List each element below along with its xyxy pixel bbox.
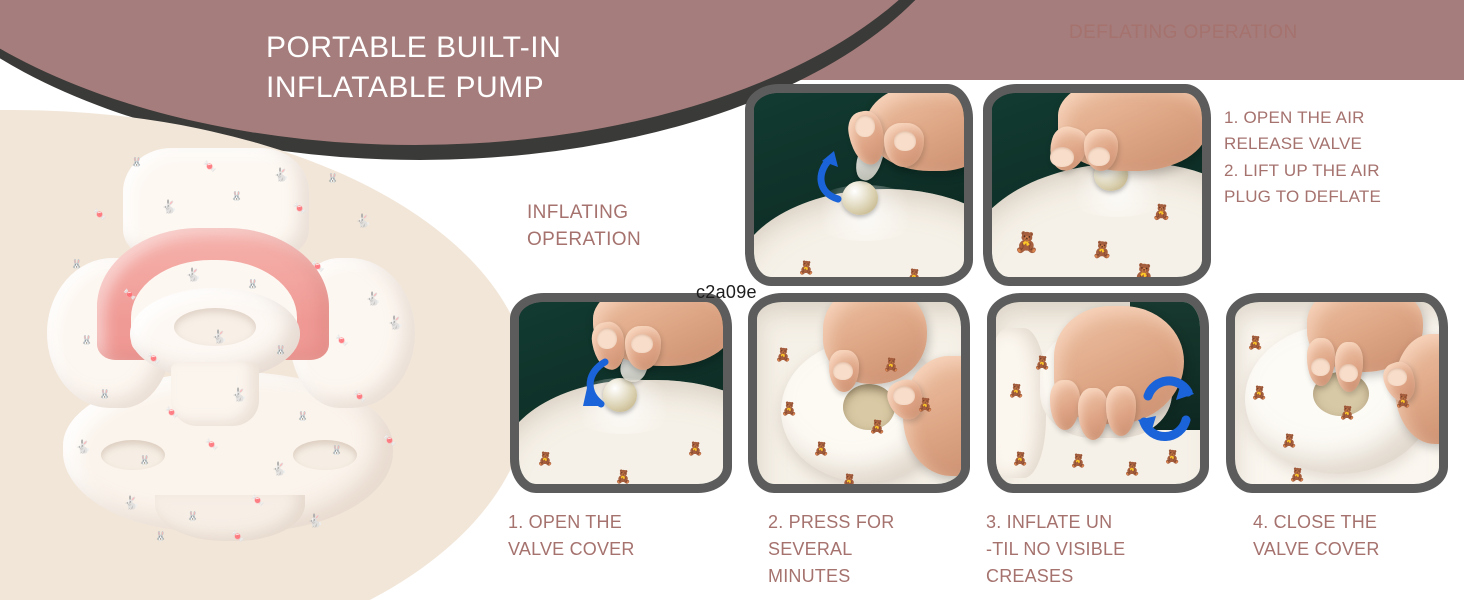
infographic-root: PORTABLE BUILT-IN INFLATABLE PUMP 🐰🍬🐇🐰🍬🐇… [0,0,1464,600]
bunny-print: 🐰 [99,390,110,399]
bunny-print: 🐇 [387,316,403,329]
bunny-print: 🐇 [75,440,91,453]
bunny-print: 🐇 [161,200,177,213]
fingernail [1339,364,1358,382]
seat-cup-holder-right [293,440,357,470]
photo-step-1-open-valve-cover: 🧸 🧸 🧸 [510,293,732,493]
bunny-print: 🍬 [123,290,137,301]
bunny-print: 🍬 [293,204,307,215]
seat-cup-holder-left [101,440,165,470]
bunny-print: 🐇 [185,268,201,281]
fingernail [1311,358,1330,376]
deflating-operation-heading: DEFLATING OPERATION [1069,22,1298,44]
bunny-print: 🍬 [335,336,349,347]
inflating-operation-heading: INFLATING OPERATION [527,200,641,254]
caption-step-3: 3. INFLATE UN -TIL NO VISIBLE CREASES [986,509,1211,590]
bunny-print: 🐰 [331,446,342,455]
photo-step-4-close-cover: 🧸 🧸 🧸 🧸 🧸 🧸 [1226,293,1448,493]
bunny-print: 🐇 [271,462,287,475]
bunny-print: 🐇 [307,514,323,527]
bunny-print: 🍬 [93,210,107,221]
deflating-steps-text: 1. OPEN THE AIR RELEASE VALVE 2. LIFT UP… [1224,105,1440,210]
bunny-print: 🍬 [383,436,397,447]
bunny-print: 🐰 [131,158,142,167]
bunny-print: 🐇 [123,496,139,509]
bunny-print: 🍬 [231,532,245,543]
bunny-print: 🍬 [251,496,265,507]
thumbnail [855,115,875,137]
thumbnail [597,328,617,349]
bunny-print: 🍬 [203,162,217,173]
photo-deflate-lift-plug: 🧸 🧸 🧸 🧸 [983,84,1211,286]
bunny-print: 🐰 [187,512,198,521]
fingernail [1050,147,1074,167]
bunny-print: 🐰 [247,280,258,289]
bunny-print: 🐇 [211,330,227,343]
blue-rotation-arrows-icon [1126,370,1202,446]
bunny-print: 🐰 [297,412,308,421]
bunny-print: 🐇 [355,214,371,227]
bunny-print: 🐰 [139,456,150,465]
bunny-print: 🍬 [165,408,179,419]
photo-step-3-inflate: 🧸 🧸 🧸 🧸 🧸 🧸 [987,293,1209,493]
product-image-inflatable-baby-seat: 🐰🍬🐇🐰🍬🐇🐰🍬🐇🐰🍬🐇🐰🍬🐇🐰🍬🐇🐰🍬🐇🐰🍬🐇🐰🍬🐇🐰🍬🐇🐰🍬🐇🐰🍬🐇🐰🍬 [35,140,425,550]
caption-step-2: 2. PRESS FOR SEVERAL MINUTES [768,509,973,590]
bunny-print: 🐰 [81,336,92,345]
page-title: PORTABLE BUILT-IN INFLATABLE PUMP [266,28,561,108]
bunny-print: 🐰 [231,192,242,201]
fingernail [1088,147,1110,166]
bunny-print: 🐰 [71,260,82,269]
bunny-print: 🍬 [147,354,161,365]
photo-step-2-press-pump: 🧸 🧸 🧸 🧸 🧸 🧸 🧸 [748,293,970,493]
bunny-print: 🐰 [327,174,338,183]
bunny-print: 🐇 [365,292,381,305]
bunny-print: 🍬 [205,440,219,451]
fingernail [631,334,653,353]
watermark-text: c2a09e [696,282,757,303]
bunny-print: 🍬 [311,262,325,273]
fingernail [833,362,853,380]
caption-step-4: 4. CLOSE THE VALVE COVER [1253,509,1453,563]
bunny-print: 🐇 [231,388,247,401]
thumbnail [1387,368,1407,386]
seat-foot [155,495,305,541]
bunny-print: 🐰 [275,346,286,355]
photo-deflate-open-valve: 🧸 🧸 [745,84,973,286]
caption-step-1: 1. OPEN THE VALVE COVER [508,509,723,563]
bunny-print: 🐇 [273,168,289,181]
blue-arrow-icon [804,147,854,207]
thumbnail [893,386,915,405]
bunny-print: 🍬 [353,392,367,403]
blue-arrow-icon [575,354,623,414]
fingernail [894,131,916,151]
bunny-print: 🐰 [155,532,166,541]
